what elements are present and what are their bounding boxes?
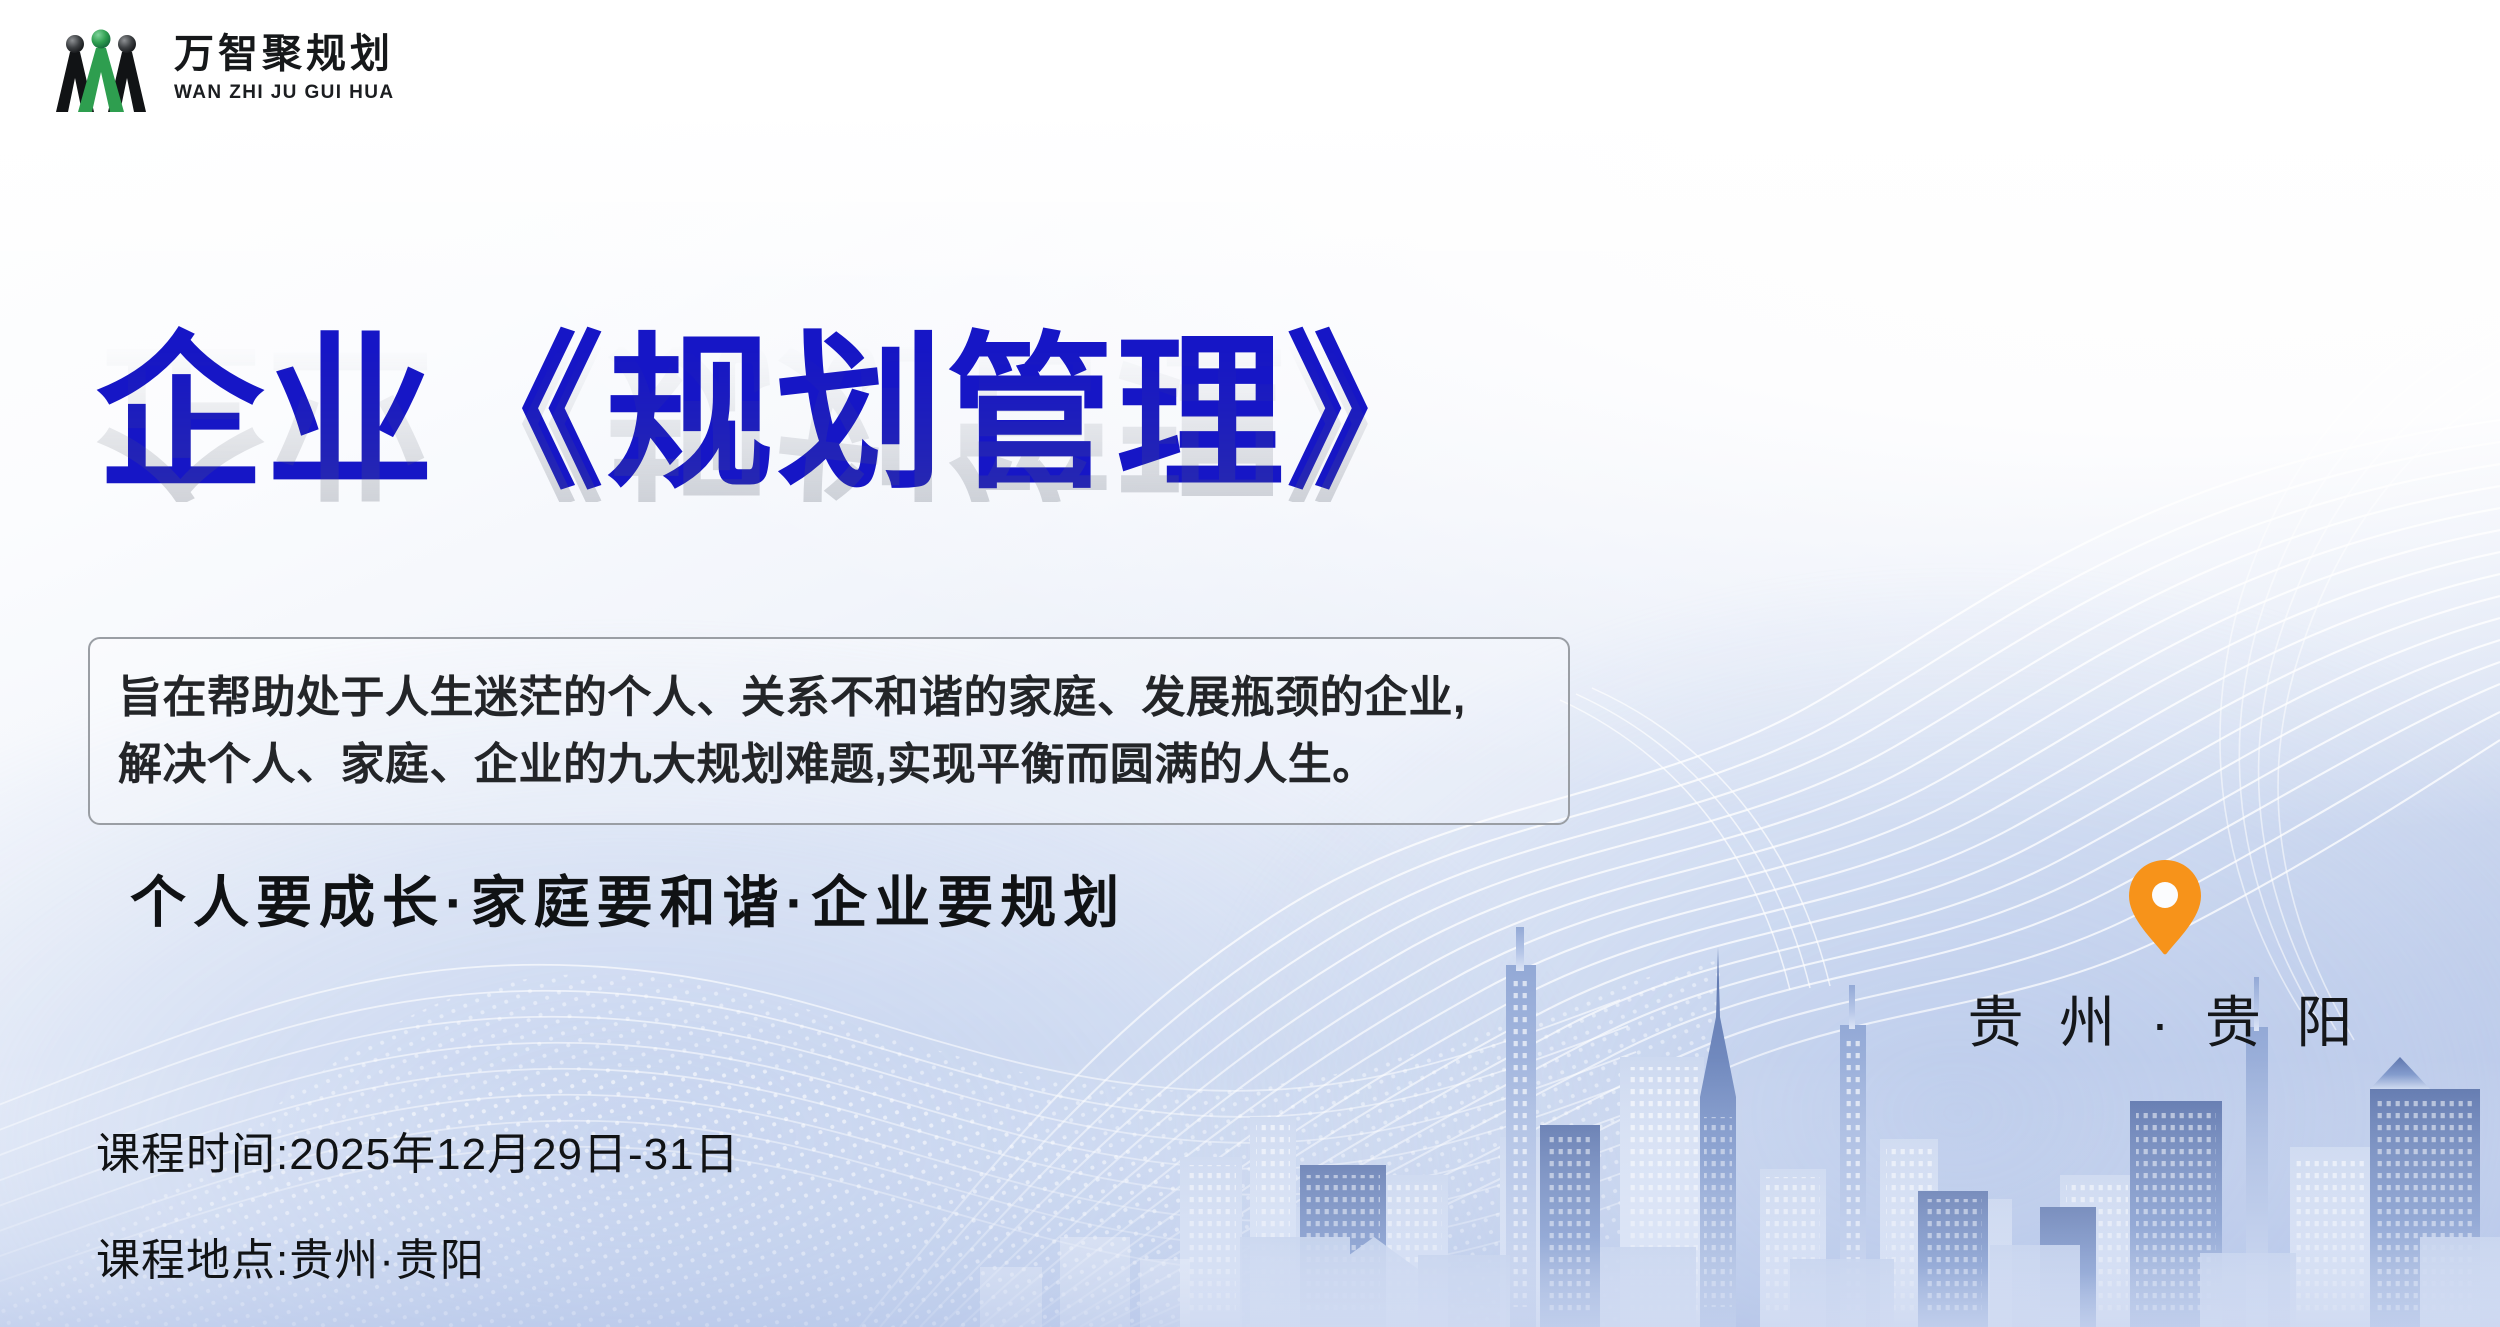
poster-canvas: 万智聚规划 WAN ZHI JU GUI HUA 企业《规划管理》 企业《规划管… bbox=[0, 0, 2500, 1327]
description-line-1: 旨在帮助处于人生迷茫的个人、关系不和谐的家庭、发展瓶颈的企业, bbox=[118, 665, 1538, 732]
hero-title-block: 企业《规划管理》 企业《规划管理》 bbox=[96, 330, 1456, 670]
course-time: 课程时间:2025年12月29日-31日 bbox=[96, 1118, 740, 1182]
description-line-2: 解决个人、家庭、企业的九大规划难题,实现平衡而圆满的人生。 bbox=[118, 732, 1538, 799]
brand-name-cn: 万智聚规划 bbox=[174, 32, 394, 75]
page-title-reflection: 企业《规划管理》 bbox=[96, 334, 1456, 502]
course-place: 课程地点:贵州·贵阳 bbox=[96, 1224, 740, 1288]
three-figures-mountain-logo-icon bbox=[46, 22, 156, 114]
map-pin-icon bbox=[2127, 858, 2203, 956]
brand-wordmark: 万智聚规划 WAN ZHI JU GUI HUA bbox=[174, 32, 394, 103]
slogan-text: 个人要成长·家庭要和谐·企业要规划 bbox=[130, 858, 1126, 939]
brand-logo[interactable]: 万智聚规划 WAN ZHI JU GUI HUA bbox=[46, 22, 394, 114]
course-info-block: 课程时间:2025年12月29日-31日 课程地点:贵州·贵阳 bbox=[96, 1118, 740, 1288]
brand-name-en: WAN ZHI JU GUI HUA bbox=[174, 82, 394, 104]
description-box: 旨在帮助处于人生迷茫的个人、关系不和谐的家庭、发展瓶颈的企业, 解决个人、家庭、… bbox=[88, 637, 1570, 825]
location-label: 贵 州 · 贵 阳 bbox=[1955, 978, 2375, 1059]
location-badge: 贵 州 · 贵 阳 bbox=[1955, 858, 2375, 1059]
